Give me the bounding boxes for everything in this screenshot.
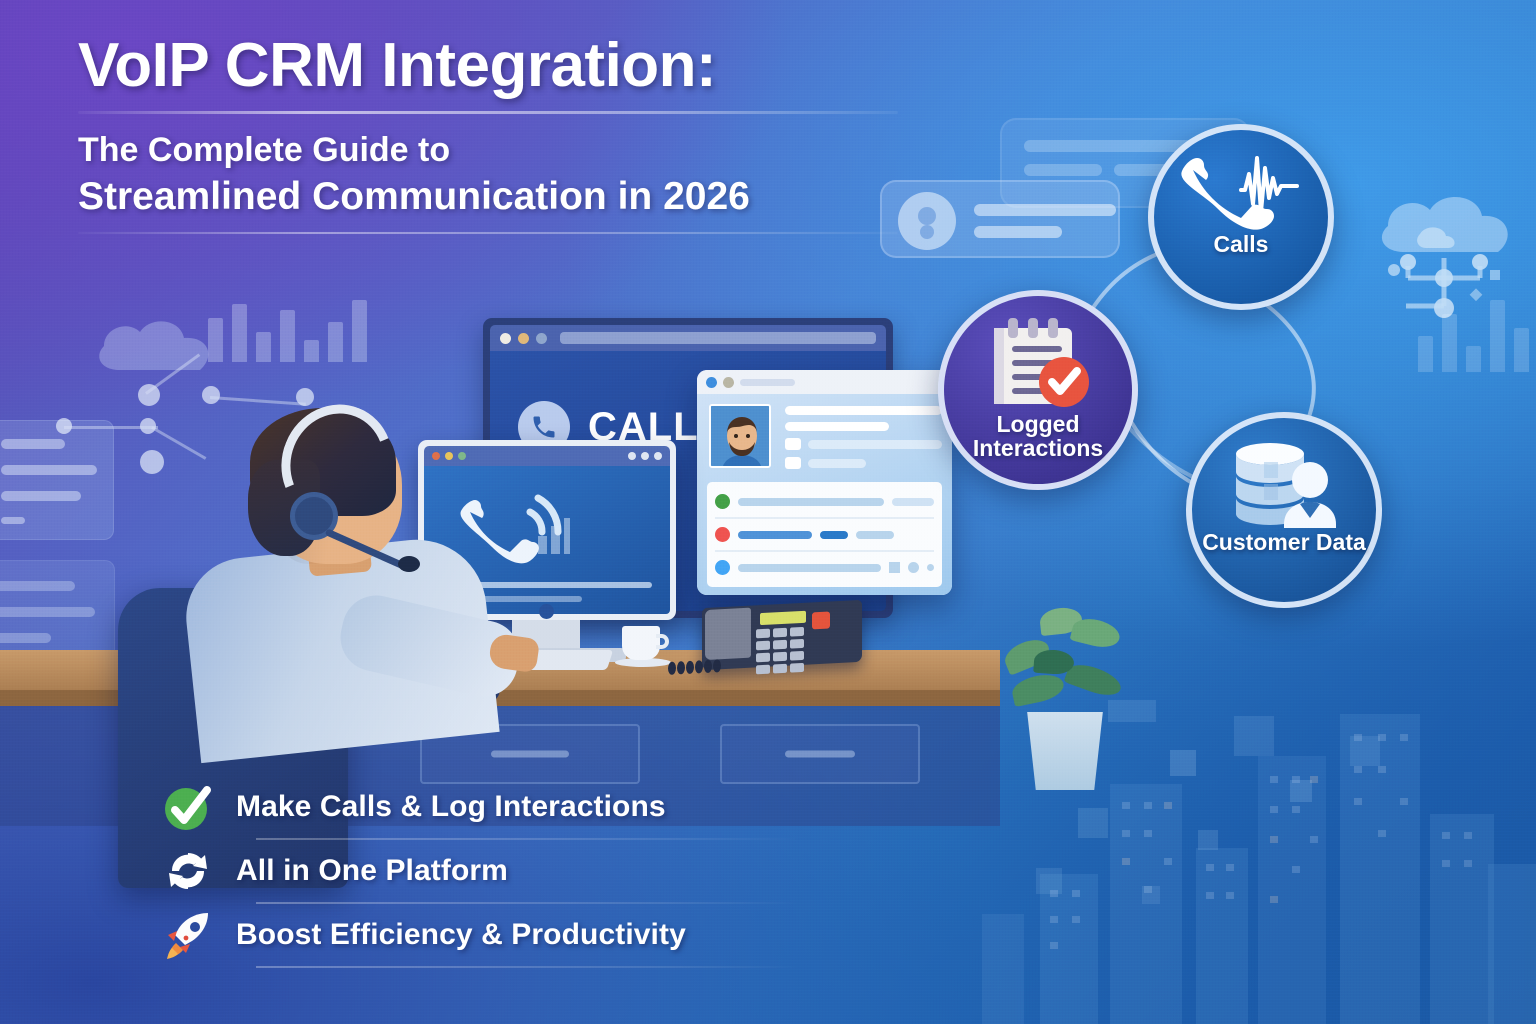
hero-banner: VoIP CRM Integration: The Complete Guide… <box>0 0 1536 1024</box>
texture-overlay <box>0 0 1536 1024</box>
